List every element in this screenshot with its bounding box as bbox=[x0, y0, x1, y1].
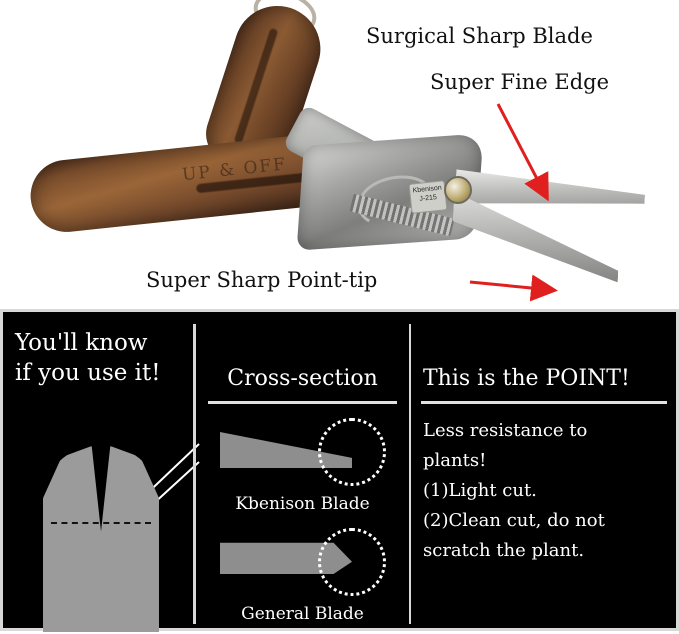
point-title: This is the POINT! bbox=[415, 324, 673, 391]
point-benefit-lines: Less resistance to plants! (1)Light cut.… bbox=[415, 404, 673, 566]
tip-silhouette bbox=[43, 446, 159, 632]
benefit-line-3: (1)Light cut. bbox=[423, 476, 667, 506]
benefit-line-1: Less resistance to bbox=[423, 416, 667, 446]
kbenison-blade-highlight-circle bbox=[318, 418, 386, 486]
know-if-you-use-it-heading: You'll know if you use it! bbox=[9, 328, 191, 388]
tip-dashed-guide bbox=[51, 522, 151, 524]
lower-blade bbox=[450, 192, 622, 283]
heading-line-2: if you use it! bbox=[15, 358, 191, 388]
callout-surgical-sharp-blade: Surgical Sharp Blade bbox=[366, 24, 593, 48]
general-blade-figure bbox=[196, 526, 409, 600]
benefit-line-4: (2)Clean cut, do not bbox=[423, 506, 667, 536]
top-product-photo-panel: UP & OFF Kbenison J-215 Surgical Sharp B… bbox=[0, 0, 679, 308]
cross-section-divider bbox=[208, 401, 397, 404]
point-benefits-column: This is the POINT! Less resistance to pl… bbox=[415, 324, 673, 624]
bottom-feature-panel: You'll know if you use it! Cross-section… bbox=[0, 309, 679, 631]
benefit-line-5: scratch the plant. bbox=[423, 536, 667, 566]
cross-section-column: Cross-section Kbenison Blade General Bla… bbox=[193, 324, 411, 624]
product-infographic: UP & OFF Kbenison J-215 Surgical Sharp B… bbox=[0, 0, 679, 631]
kbenison-blade-figure bbox=[196, 416, 409, 490]
general-blade-caption: General Blade bbox=[196, 604, 409, 624]
cross-section-title: Cross-section bbox=[196, 324, 409, 391]
tip-closeup-illustration bbox=[33, 438, 173, 628]
heading-line-1: You'll know bbox=[15, 328, 191, 358]
kbenison-blade-caption: Kbenison Blade bbox=[196, 494, 409, 514]
general-blade-highlight-circle bbox=[318, 528, 386, 596]
benefit-line-2: plants! bbox=[423, 446, 667, 476]
callout-super-fine-edge: Super Fine Edge bbox=[430, 70, 609, 94]
callout-super-sharp-point-tip: Super Sharp Point-tip bbox=[146, 268, 377, 292]
bottom-left-column: You'll know if you use it! bbox=[9, 328, 191, 620]
pivot-screw bbox=[444, 176, 472, 204]
brand-logo-plate: Kbenison J-215 bbox=[409, 180, 448, 214]
